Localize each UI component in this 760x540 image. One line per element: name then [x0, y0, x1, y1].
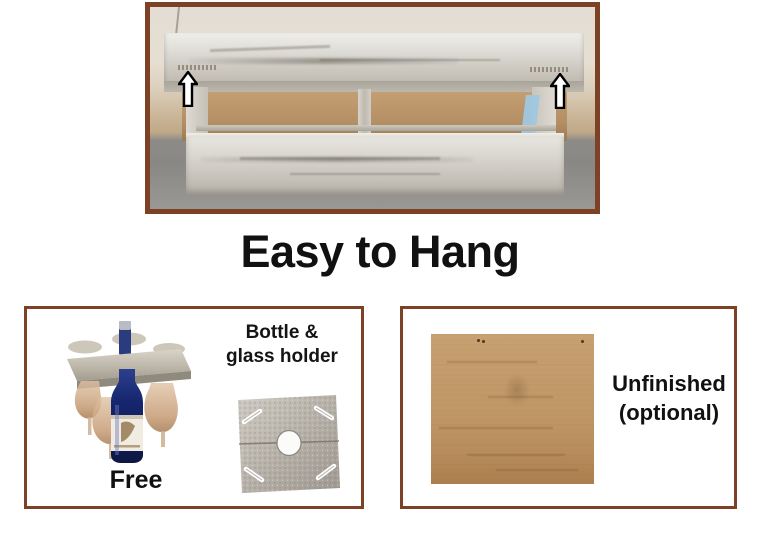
square-bottle-glass-holder-photo: [234, 392, 342, 496]
bottom-front-board: [186, 137, 564, 195]
wood-knot: [504, 373, 530, 407]
wine-bottle-and-glasses-photo: [59, 319, 199, 469]
unfinished-optional-caption: Unfinished (optional): [599, 369, 737, 427]
bottle-glass-holder-caption: Bottle & glass holder: [207, 321, 357, 370]
holder-caption-line-2: glass holder: [226, 346, 338, 367]
unfinished-caption-line-1: Unfinished: [612, 371, 726, 396]
holder-caption-line-1: Bottle &: [246, 322, 319, 343]
top-shelf-edge: [164, 81, 584, 92]
arrow-up-icon-left: [178, 71, 198, 107]
panel-unfinished-option: Unfinished (optional): [400, 306, 737, 509]
inner-shelf-rail: [196, 125, 556, 131]
mounting-hardware-left: [178, 65, 216, 70]
unfinished-wood-swatch-photo: [431, 334, 594, 484]
pallet-wine-rack-photo: [150, 7, 595, 209]
hero-photo-frame: [145, 2, 600, 214]
page-title: Easy to Hang: [0, 226, 760, 278]
panel-free-accessory: Free Bottle & glass holder: [24, 306, 364, 509]
arrow-up-icon-right: [550, 73, 570, 109]
unfinished-caption-line-2: (optional): [619, 400, 719, 425]
center-divider-post: [358, 89, 371, 139]
mounting-hardware-right: [530, 67, 568, 72]
free-label: Free: [81, 466, 191, 495]
